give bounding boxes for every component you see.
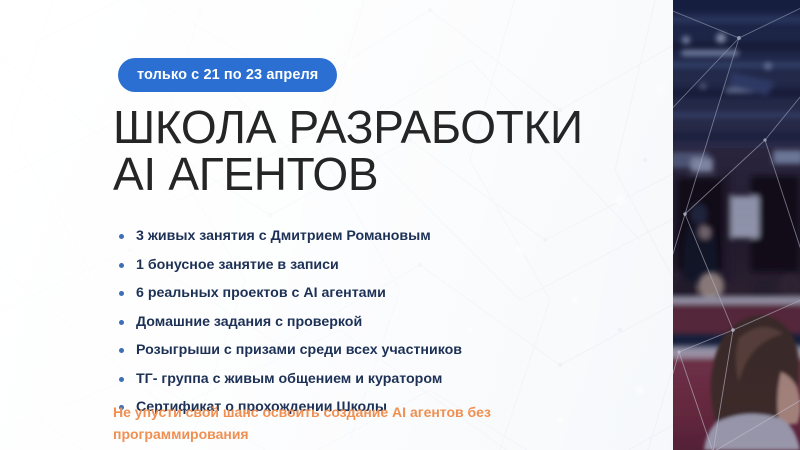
list-item-label: Розыгрыши с призами среди всех участнико… [136,336,462,365]
list-item-label: 1 бонусное занятие в записи [136,251,339,280]
bullet-dot-icon [119,291,124,296]
bullet-dot-icon [119,377,124,382]
list-item: 3 живых занятия с Дмитрием Романовым [119,222,462,251]
list-item: 1 бонусное занятие в записи [119,251,462,280]
hero-content: только с 21 по 23 апреля ШКОЛА РАЗРАБОТК… [118,0,663,450]
date-badge: только с 21 по 23 апреля [118,58,337,92]
list-item-label: ТГ- группа с живым общением и куратором [136,365,442,394]
list-item: 6 реальных проектов с AI агентами [119,279,462,308]
bullet-dot-icon [119,348,124,353]
feature-list: 3 живых занятия с Дмитрием Романовым 1 б… [119,222,462,422]
bullet-dot-icon [119,263,124,268]
conference-audience-photo [673,0,800,450]
photo-color-tint [673,0,800,450]
list-item: ТГ- группа с живым общением и куратором [119,365,462,394]
list-item: Домашние задания с проверкой [119,308,462,337]
list-item: Розыгрыши с призами среди всех участнико… [119,336,462,365]
list-item-label: Домашние задания с проверкой [136,308,362,337]
bullet-dot-icon [119,320,124,325]
hero-banner: только с 21 по 23 апреля ШКОЛА РАЗРАБОТК… [0,0,800,450]
bullet-dot-icon [119,234,124,239]
list-item-label: 6 реальных проектов с AI агентами [136,279,386,308]
call-to-action-note: Не упусти свой шанс освоить создание AI … [113,401,533,445]
page-title: ШКОЛА РАЗРАБОТКИ AI АГЕНТОВ [113,104,673,198]
list-item-label: 3 живых занятия с Дмитрием Романовым [136,222,431,251]
